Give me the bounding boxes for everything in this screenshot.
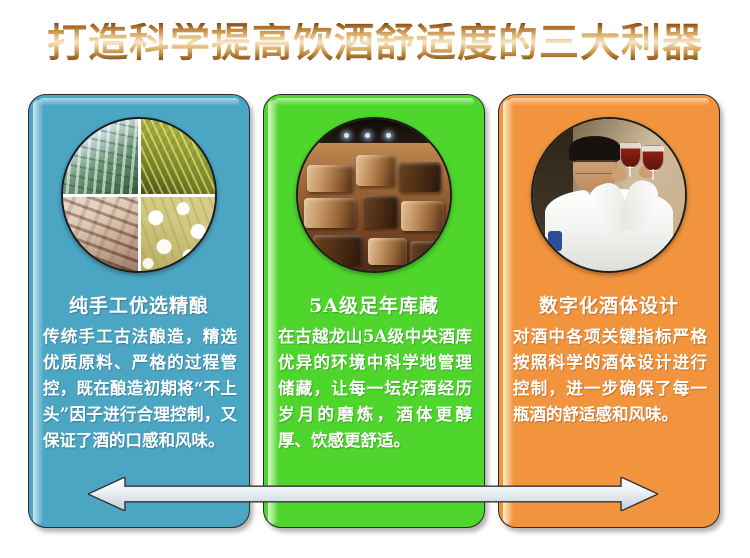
badge-accent — [548, 231, 562, 251]
scientist-photo-circle — [531, 117, 687, 273]
wine-jar — [398, 162, 441, 192]
person-hand — [612, 168, 627, 182]
wine-jar — [307, 165, 353, 192]
wine-jar — [410, 241, 443, 268]
quadrant-white-rice-grains — [139, 195, 215, 271]
quadrant-waterfall-water — [63, 119, 139, 195]
panel-top-sheen — [39, 98, 239, 106]
wine-glass — [620, 142, 642, 168]
wine-glass-stem — [652, 169, 654, 180]
panel-heading: 5A级足年库藏 — [264, 291, 484, 318]
eyeglasses-icon — [574, 160, 617, 174]
cellar-lamp-icon — [386, 133, 391, 138]
feature-panel-handcraft[interactable]: 纯手工优选精酿 传统手工古法酿造，精选优质原料、严格的过程管控，既在酿造初期将“… — [28, 94, 250, 528]
panel-heading: 纯手工优选精酿 — [29, 291, 249, 318]
wine-jar — [313, 235, 362, 265]
panel-body-text: 对酒中各项关键指标严格按照科学的酒体设计进行控制，进一步确保了每一瓶酒的舒适感和… — [513, 324, 707, 428]
person-hair — [569, 136, 621, 162]
feature-panel-digital-design[interactable]: 数字化酒体设计 对酒中各项关键指标严格按照科学的酒体设计进行控制，进一步确保了每… — [498, 94, 720, 528]
page-title: 打造科学提高饮酒舒适度的三大利器 — [0, 12, 750, 74]
panel-heading: 数字化酒体设计 — [499, 291, 719, 318]
quadrant-divider-horizontal — [63, 194, 215, 197]
page-title-text: 打造科学提高饮酒舒适度的三大利器 — [47, 23, 703, 63]
panel-top-sheen — [274, 98, 474, 106]
wine-cellar-photo-circle — [296, 117, 452, 273]
wine-jar — [368, 238, 408, 265]
wine-jar — [401, 201, 444, 231]
four-quadrant-photo-circle — [61, 117, 217, 273]
lab-scene — [533, 119, 685, 271]
cellar-lamp-icon — [344, 133, 349, 138]
panel-body-text: 传统手工古法酿造，精选优质原料、严格的过程管控，既在酿造初期将“不上头”因子进行… — [43, 324, 237, 454]
wine-jar — [304, 198, 356, 228]
wine-glass — [642, 145, 664, 171]
cellar-lamp-icon — [365, 133, 370, 138]
wine-jar — [356, 155, 396, 185]
quadrant-pottery-fermentation-jars — [63, 195, 139, 271]
cellar-ceiling — [298, 119, 450, 143]
feature-panel-cellar[interactable]: 5A级足年库藏 在古越龙山5A级中央酒库优异的环境中科学地管理储藏，让每一坛好酒… — [263, 94, 485, 528]
quadrant-golden-rice-field — [139, 119, 215, 195]
wine-jar — [362, 195, 398, 228]
cellar-scene — [298, 119, 450, 271]
panel-top-sheen — [509, 98, 709, 106]
panel-body-text: 在古越龙山5A级中央酒库优异的环境中科学地管理储藏，让每一坛好酒经历岁月的磨炼，… — [278, 324, 472, 454]
panel-row: 纯手工优选精酿 传统手工古法酿造，精选优质原料、严格的过程管控，既在酿造初期将“… — [0, 94, 750, 530]
wine-glass-stem — [629, 166, 631, 177]
